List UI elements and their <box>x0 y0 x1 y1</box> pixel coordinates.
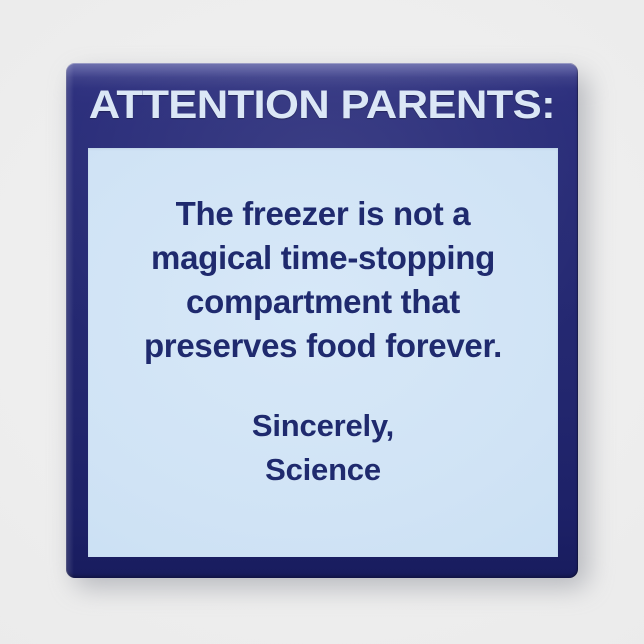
message-body-line-3: compartment that <box>88 280 558 324</box>
magnet-frame[interactable]: ATTENTION PARENTS: The freezer is not a … <box>66 63 578 578</box>
message-signature: Sincerely, Science <box>88 404 558 492</box>
message-body: The freezer is not a magical time-stoppi… <box>88 192 558 368</box>
message-panel: The freezer is not a magical time-stoppi… <box>88 148 558 557</box>
message-body-line-2: magical time-stopping <box>88 236 558 280</box>
header-band: ATTENTION PARENTS: <box>66 63 578 148</box>
signature-line-1: Sincerely, <box>88 404 558 448</box>
magnet-product-scene: ATTENTION PARENTS: The freezer is not a … <box>0 0 644 644</box>
message-body-line-1: The freezer is not a <box>88 192 558 236</box>
header-title: ATTENTION PARENTS: <box>89 83 555 128</box>
message-body-line-4: preserves food forever. <box>88 324 558 368</box>
signature-line-2: Science <box>88 448 558 492</box>
